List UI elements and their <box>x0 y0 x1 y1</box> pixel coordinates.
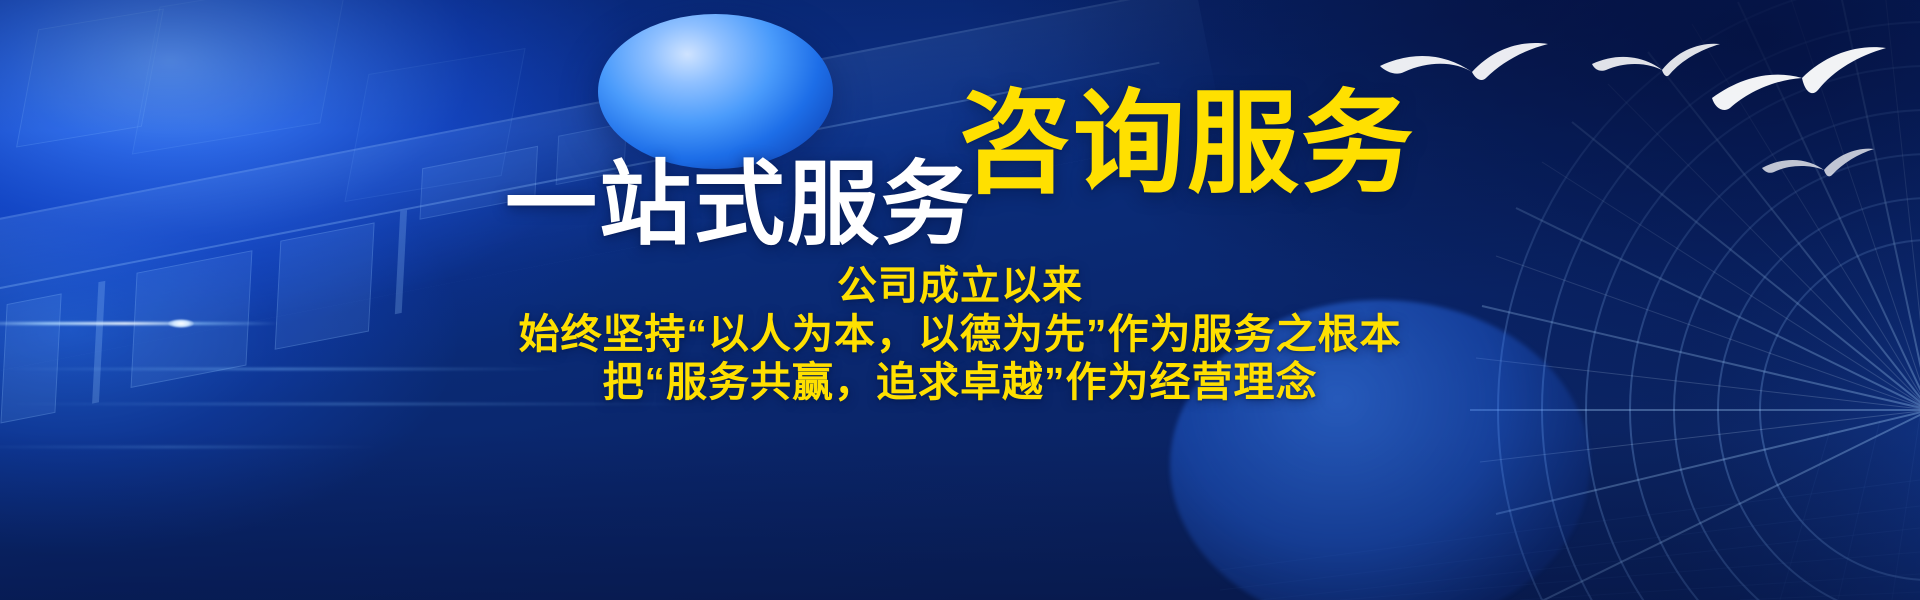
subtext-line-3: 把“服务共赢，追求卓越”作为经营理念 <box>0 358 1920 406</box>
banner-subtext: 公司成立以来 始终坚持“以人为本，以德为先”作为服务之根本 把“服务共赢，追求卓… <box>0 262 1920 406</box>
headline-yellow-text: 咨询服务 <box>959 88 1415 200</box>
banner-headline: 一站式服务咨询服务 <box>0 88 1920 200</box>
banner-content: 一站式服务咨询服务 公司成立以来 始终坚持“以人为本，以德为先”作为服务之根本 … <box>0 0 1920 600</box>
subtext-line-2: 始终坚持“以人为本，以德为先”作为服务之根本 <box>0 310 1920 358</box>
subtext-line-1: 公司成立以来 <box>0 262 1920 310</box>
headline-inner: 一站式服务咨询服务 <box>505 88 1415 200</box>
promo-banner: 一站式服务咨询服务 公司成立以来 始终坚持“以人为本，以德为先”作为服务之根本 … <box>0 0 1920 600</box>
headline-white-text: 一站式服务 <box>505 159 975 251</box>
